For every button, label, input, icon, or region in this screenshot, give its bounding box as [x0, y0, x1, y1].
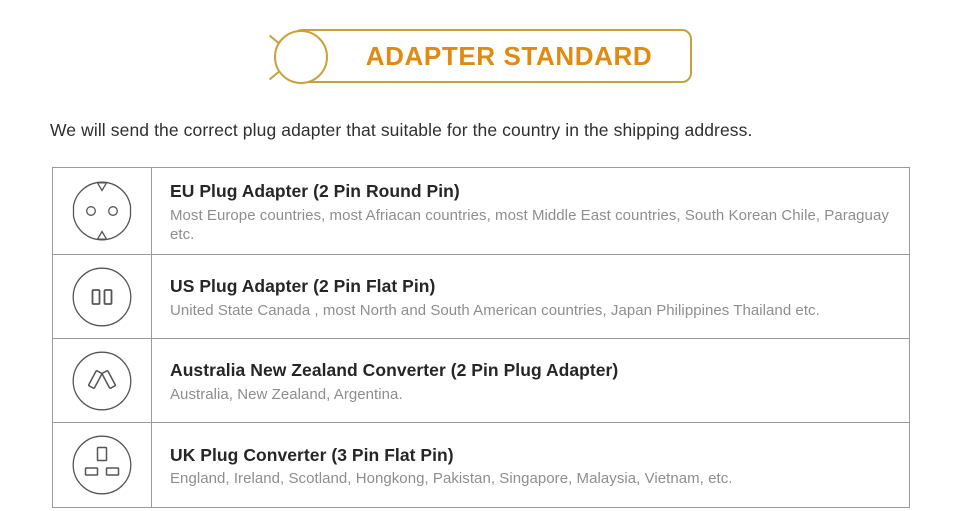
us-socket-icon — [71, 266, 133, 328]
uk-socket-icon — [71, 434, 133, 496]
intro-text: We will send the correct plug adapter th… — [50, 120, 930, 141]
adapter-standard-table: EU Plug Adapter (2 Pin Round Pin) Most E… — [52, 167, 910, 508]
header-banner: ADAPTER STANDARD — [0, 0, 960, 110]
row-description: England, Ireland, Scotland, Hongkong, Pa… — [170, 469, 890, 488]
row-title: US Plug Adapter (2 Pin Flat Pin) — [170, 275, 899, 298]
row-description: Australia, New Zealand, Argentina. — [170, 385, 890, 404]
table-cell-text: Australia New Zealand Converter (2 Pin P… — [152, 339, 909, 422]
table-cell-icon — [53, 255, 152, 338]
table-row: EU Plug Adapter (2 Pin Round Pin) Most E… — [53, 168, 909, 255]
table-row: UK Plug Converter (3 Pin Flat Pin) Engla… — [53, 423, 909, 507]
table-cell-icon — [53, 339, 152, 422]
page-title: ADAPTER STANDARD — [292, 29, 692, 83]
table-row: US Plug Adapter (2 Pin Flat Pin) United … — [53, 255, 909, 339]
row-description: Most Europe countries, most Afriacan cou… — [170, 206, 890, 244]
row-title: Australia New Zealand Converter (2 Pin P… — [170, 359, 899, 382]
table-row: Australia New Zealand Converter (2 Pin P… — [53, 339, 909, 423]
row-description: United State Canada , most North and Sou… — [170, 301, 890, 320]
table-cell-text: EU Plug Adapter (2 Pin Round Pin) Most E… — [152, 168, 909, 254]
table-cell-icon — [53, 423, 152, 507]
au-socket-icon — [71, 350, 133, 412]
eu-socket-icon — [71, 180, 133, 242]
table-cell-text: US Plug Adapter (2 Pin Flat Pin) United … — [152, 255, 909, 338]
table-cell-icon — [53, 168, 152, 254]
row-title: EU Plug Adapter (2 Pin Round Pin) — [170, 180, 899, 203]
row-title: UK Plug Converter (3 Pin Flat Pin) — [170, 444, 899, 467]
table-cell-text: UK Plug Converter (3 Pin Flat Pin) Engla… — [152, 423, 909, 507]
